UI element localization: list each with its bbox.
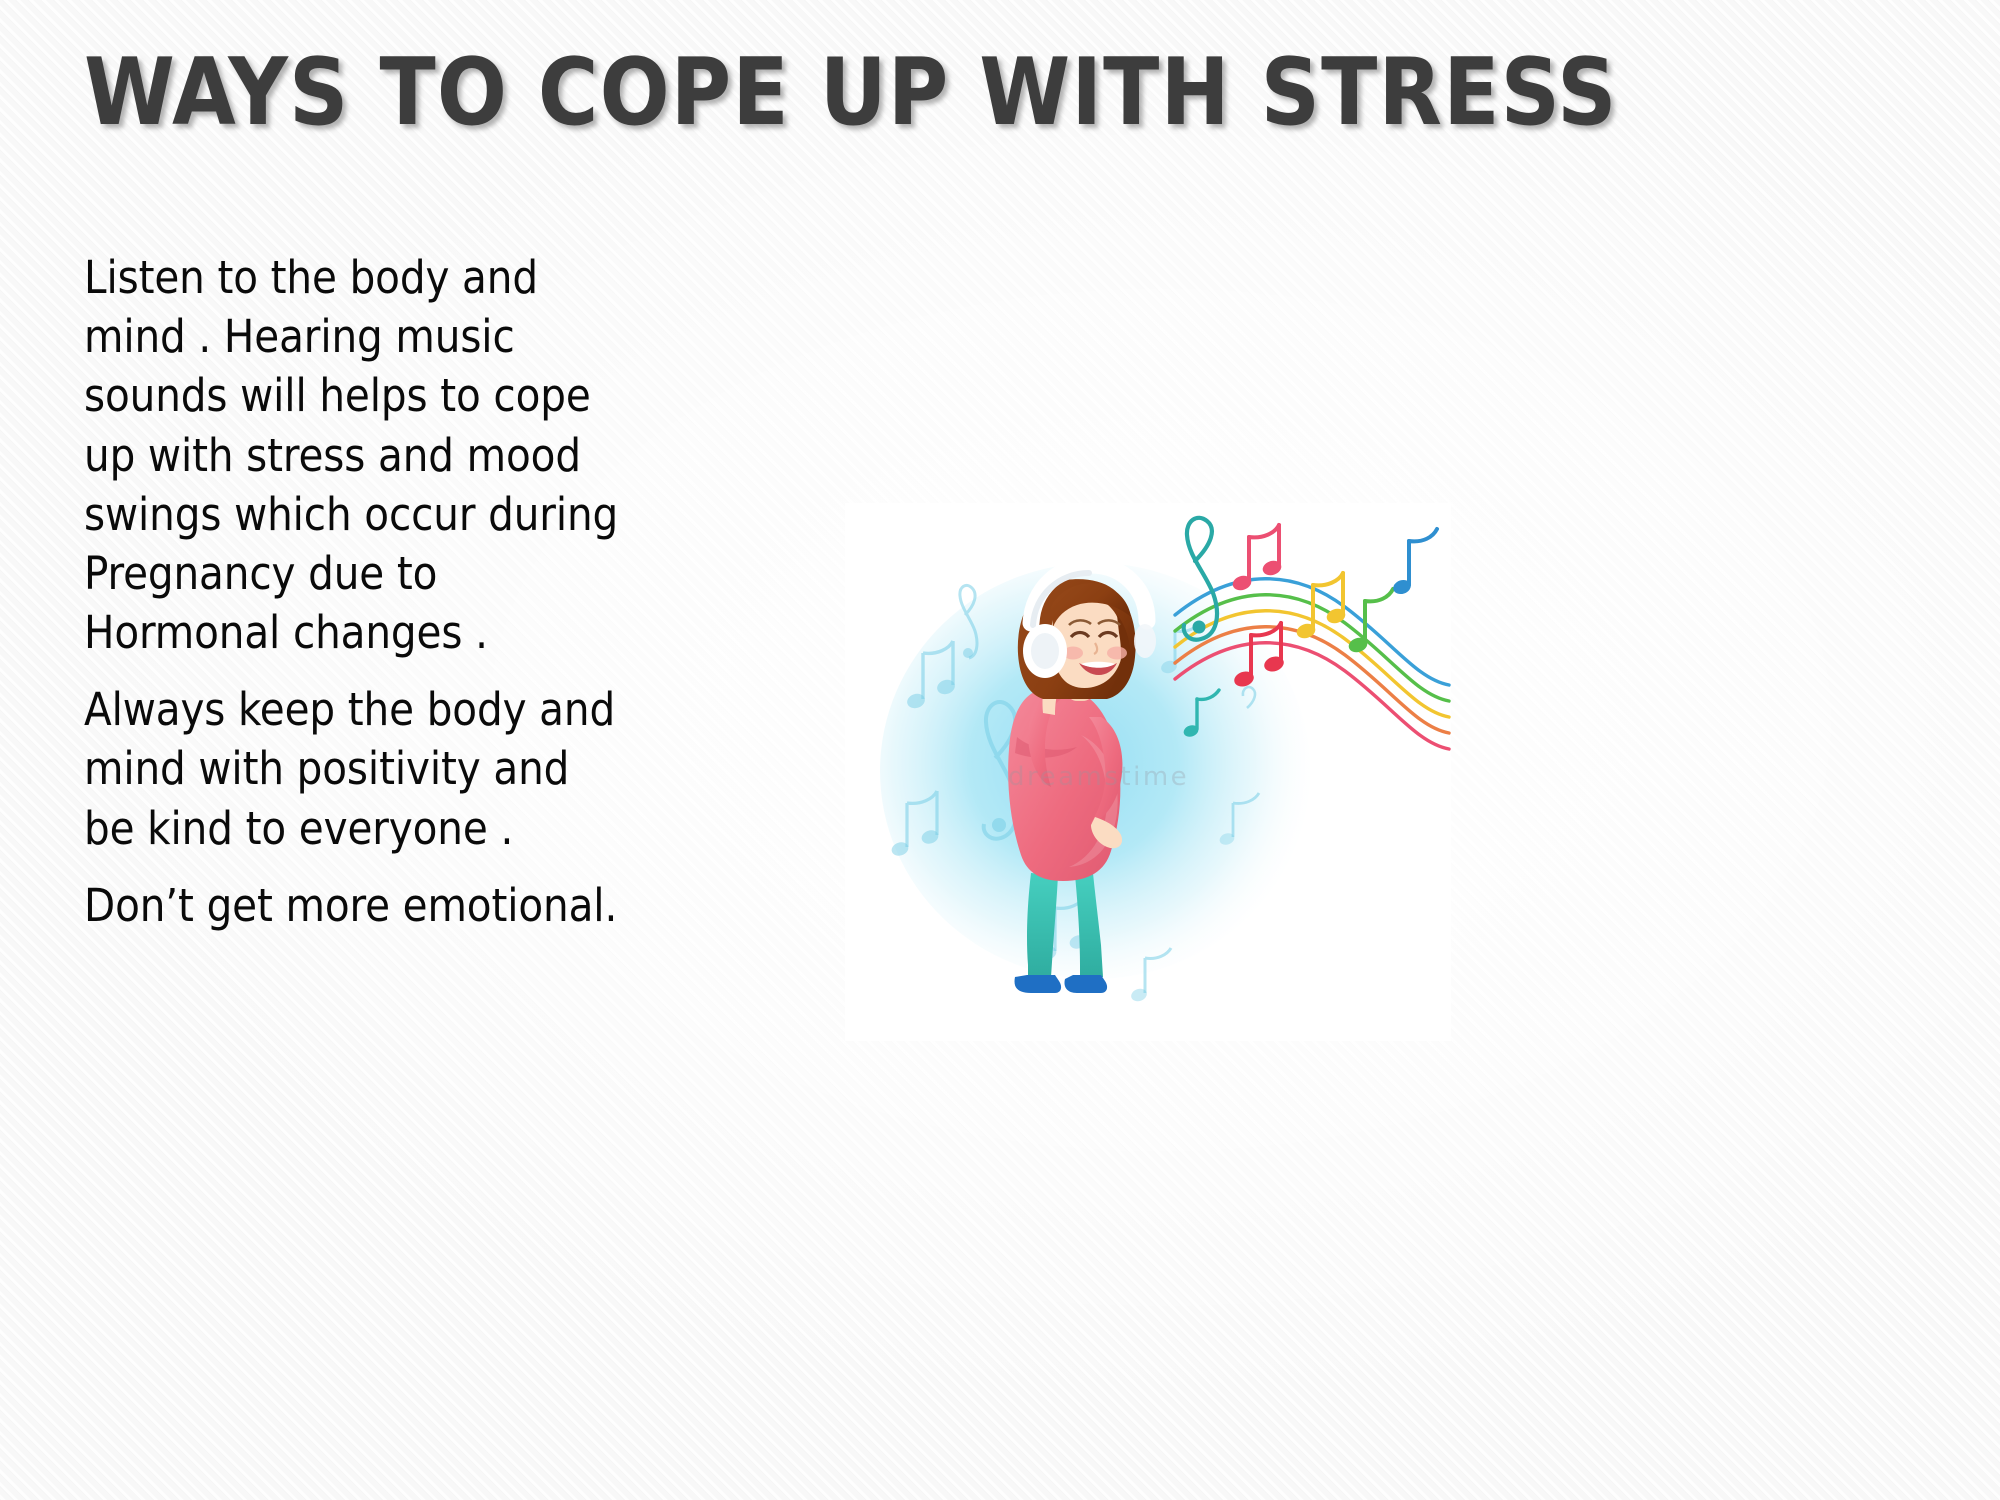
pregnant-woman-listening-music-illustration xyxy=(845,503,1451,1041)
slide-canvas: WAYS TO COPE UP WITH STRESS Listen to th… xyxy=(0,0,2000,1500)
body-paragraph-2: Always keep the body and mind with posit… xyxy=(84,680,724,858)
left-shoe xyxy=(1015,975,1062,993)
body-paragraph-3: Don’t get more emotional. xyxy=(84,876,724,935)
headphone-earcup-inner xyxy=(1031,633,1059,669)
right-shoe xyxy=(1065,975,1108,993)
page-title: WAYS TO COPE UP WITH STRESS xyxy=(84,44,1896,142)
dress xyxy=(1008,687,1120,881)
right-cheek-blush xyxy=(1107,647,1127,660)
headphone-earcup-right xyxy=(1134,624,1156,658)
body-paragraph-1: Listen to the body and mind . Hearing mu… xyxy=(84,248,724,662)
body-text-column: Listen to the body and mind . Hearing mu… xyxy=(84,248,724,935)
illustration-card xyxy=(845,503,1451,1041)
